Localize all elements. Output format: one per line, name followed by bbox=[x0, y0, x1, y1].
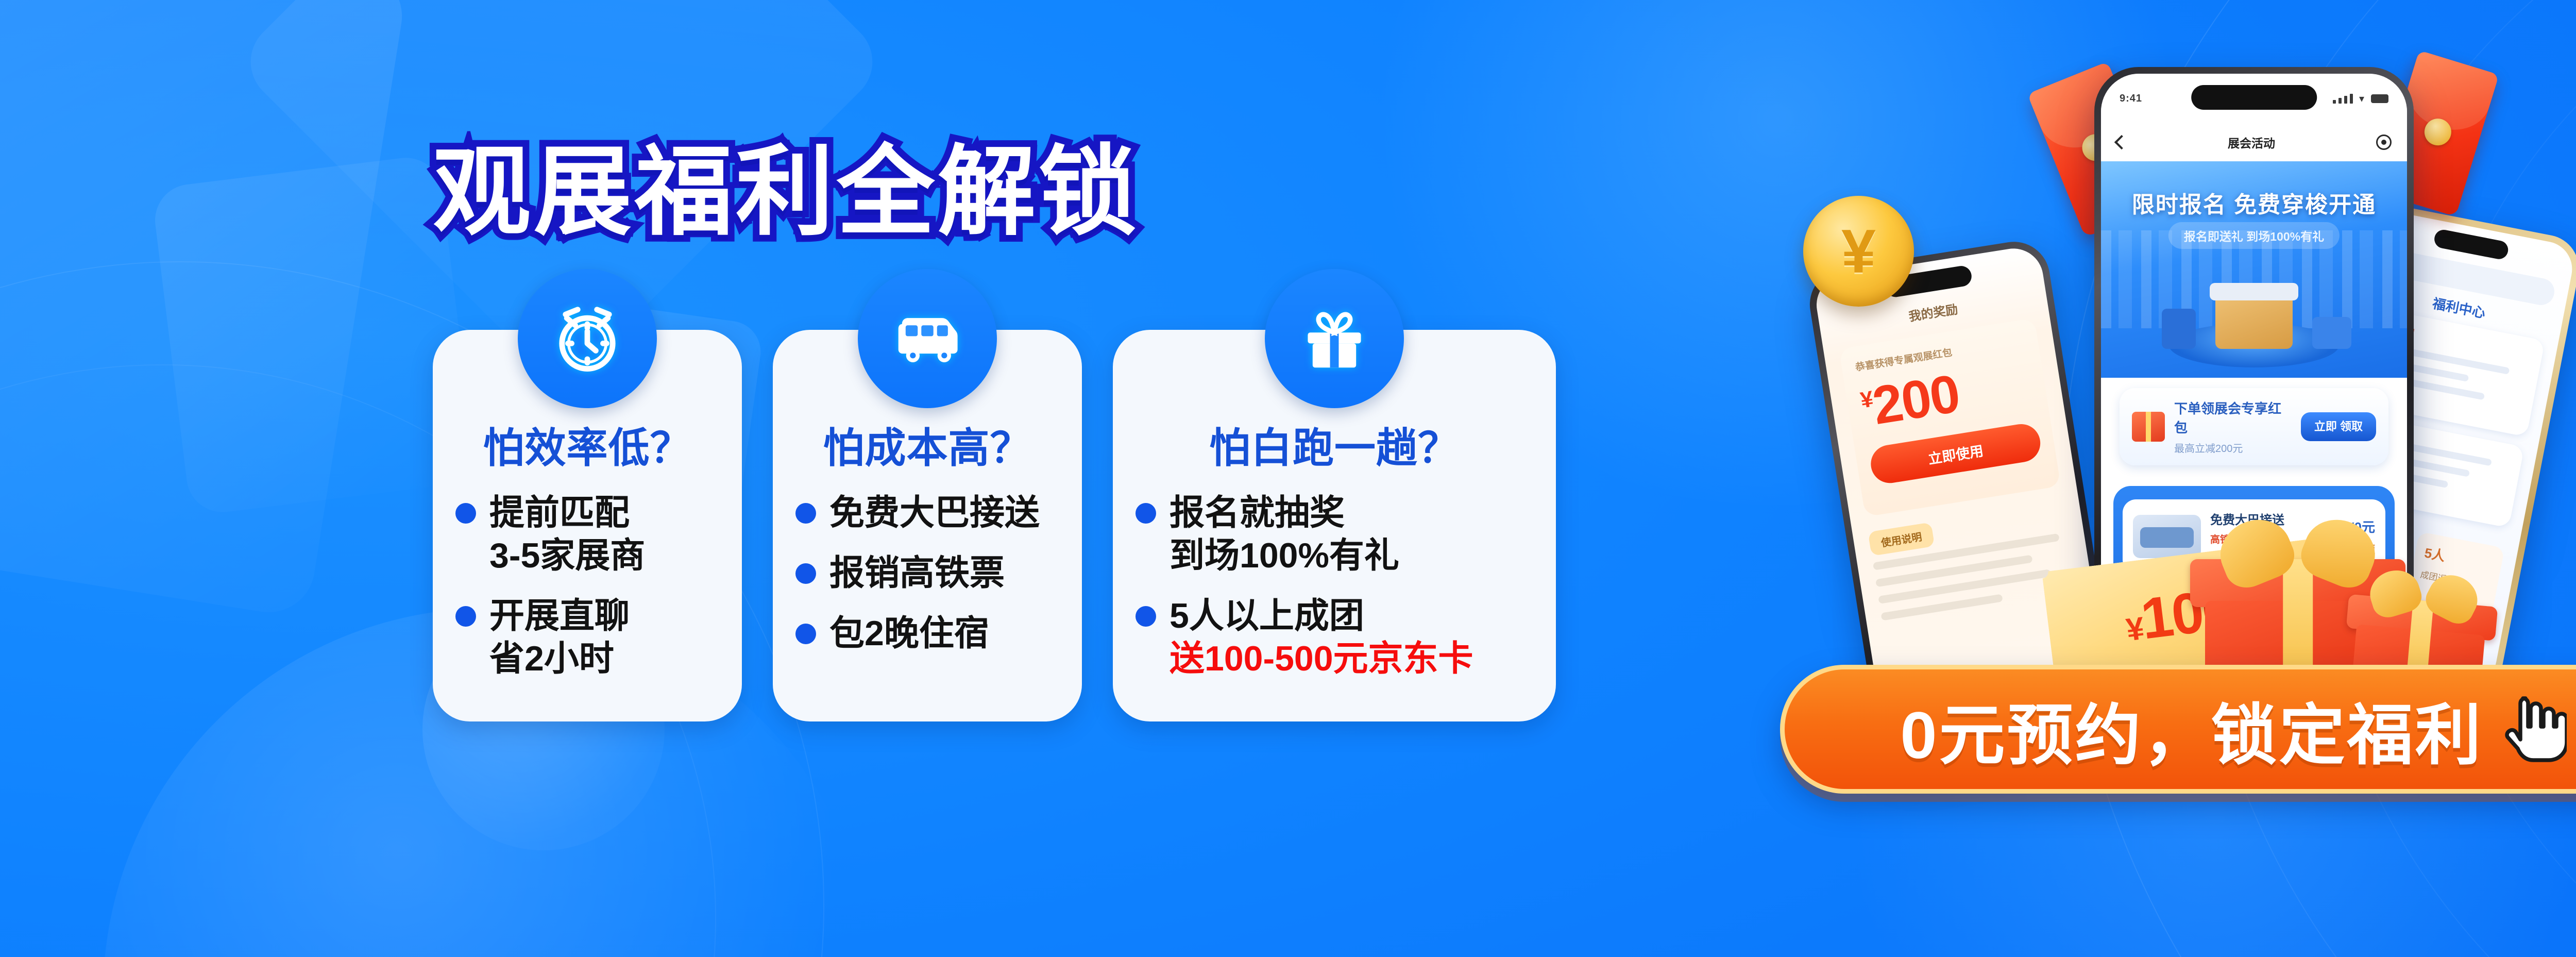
card-title: 怕效率低？ bbox=[483, 428, 692, 469]
list-item: 5人以上成团 送100-500元京东卡 bbox=[1136, 595, 1533, 680]
list-item: 开展直聊 省2小时 bbox=[455, 595, 719, 680]
bullet-text: 报名就抽奖 到场100%有礼 bbox=[1170, 492, 1399, 577]
benefit-card-reward: 怕白跑一趟？ 报名就抽奖 到场100%有礼 5人以上成团 送100-500元京东… bbox=[1113, 330, 1556, 721]
promo-claim-button[interactable]: 立即 领取 bbox=[2301, 412, 2376, 441]
gift-bow-icon bbox=[2220, 521, 2376, 583]
benefit-card-efficiency: 怕效率低？ 提前匹配 3-5家展商 开展直聊 省2小时 bbox=[433, 330, 742, 721]
bg-shape-card-2 bbox=[151, 154, 478, 516]
coin-currency-symbol: ¥ bbox=[1841, 221, 1876, 282]
more-options-icon[interactable] bbox=[2376, 135, 2392, 150]
gift-icon bbox=[1265, 269, 1404, 408]
card-title: 怕成本高？ bbox=[823, 428, 1032, 469]
list-item: 免费大巴接送 bbox=[795, 492, 1059, 534]
back-arrow-icon[interactable] bbox=[2114, 135, 2129, 149]
status-time: 9:41 bbox=[2120, 93, 2142, 105]
gold-coin-icon: ¥ bbox=[1803, 196, 1914, 307]
cta-label: 0元预约，锁定福利 bbox=[1900, 682, 2483, 777]
phone-notch bbox=[2191, 85, 2317, 110]
benefit-bullets: 报名就抽奖 到场100%有礼 5人以上成团 送100-500元京东卡 bbox=[1136, 492, 1533, 680]
promo-banner: 观展福利全解锁 怕效率低？ 提前匹配 bbox=[0, 0, 2576, 957]
bullet-dot-icon bbox=[455, 503, 476, 524]
app-promo-card[interactable]: 下单领展会专享红包 最高立减200元 立即 领取 bbox=[2120, 388, 2388, 465]
coupon-usage-tag: 使用说明 bbox=[1868, 522, 1935, 556]
promo-line-2: 最高立减200元 bbox=[2174, 440, 2292, 455]
bus-icon bbox=[858, 269, 997, 408]
bus-thumbnail-image bbox=[2133, 515, 2201, 558]
hero-subheadline: 报名即送礼 到场100%有礼 bbox=[2168, 222, 2340, 249]
promo-line-1: 下单领展会专享红包 bbox=[2174, 401, 2281, 435]
promo-text: 下单领展会专享红包 最高立减200元 bbox=[2174, 398, 2292, 455]
bullet-text: 5人以上成团 送100-500元京东卡 bbox=[1170, 595, 1473, 680]
bullet-dot-icon bbox=[1136, 503, 1156, 524]
bullet-text: 包2晚住宿 bbox=[829, 612, 989, 655]
signal-icon bbox=[2333, 94, 2353, 104]
page-title: 观展福利全解锁 bbox=[433, 143, 1140, 241]
phone-notch bbox=[2433, 228, 2510, 261]
nav-title: 展会活动 bbox=[2228, 133, 2275, 151]
bullet-dot-icon bbox=[795, 563, 816, 584]
bullet-text: 免费大巴接送 bbox=[829, 492, 1040, 534]
bullet-highlight-text: 送100-500元京东卡 bbox=[1170, 637, 1473, 680]
promo-gift-icon bbox=[2132, 412, 2165, 442]
alarm-clock-icon bbox=[518, 269, 657, 408]
gift-bow-icon bbox=[2368, 568, 2480, 622]
list-item: 报销高铁票 bbox=[795, 552, 1059, 595]
benefit-bullets: 提前匹配 3-5家展商 开展直聊 省2小时 bbox=[455, 492, 719, 680]
list-item: 包2晚住宿 bbox=[795, 612, 1059, 655]
phone-nav-bar: 展会活动 bbox=[2101, 123, 2407, 161]
bullet-text: 开展直聊 省2小时 bbox=[489, 595, 630, 680]
bullet-dot-icon bbox=[1136, 606, 1156, 627]
bullet-dot-icon bbox=[795, 503, 816, 524]
bullet-dot-icon bbox=[455, 606, 476, 627]
placeholder-line bbox=[1878, 569, 2051, 604]
benefit-card-cost: 怕成本高？ 免费大巴接送 报销高铁票 包2晚住宿 bbox=[773, 330, 1082, 721]
bg-shape-card-1 bbox=[0, 0, 409, 619]
hero-headline: 限时报名 免费穿梭开通 bbox=[2101, 186, 2407, 219]
hero-box-right bbox=[2312, 317, 2351, 349]
battery-icon bbox=[2371, 94, 2388, 103]
list-item: 提前匹配 3-5家展商 bbox=[455, 492, 719, 577]
app-hero-banner: 限时报名 免费穿梭开通 报名即送礼 到场100%有礼 bbox=[2101, 161, 2407, 378]
bullet-text: 报销高铁票 bbox=[829, 552, 1005, 595]
hero-gift-lid bbox=[2210, 283, 2298, 300]
coupon-card: 恭喜获得专属观展红包 ¥200 立即使用 bbox=[1839, 318, 2061, 517]
bullet-text: 提前匹配 3-5家展商 bbox=[489, 492, 645, 577]
bullet-dot-icon bbox=[795, 624, 816, 644]
list-item: 报名就抽奖 到场100%有礼 bbox=[1136, 492, 1533, 577]
card-title: 怕白跑一趟？ bbox=[1209, 428, 1460, 469]
benefit-bullets: 免费大巴接送 报销高铁票 包2晚住宿 bbox=[795, 492, 1059, 655]
hero-box-left bbox=[2162, 309, 2196, 349]
hand-pointer-cursor-icon bbox=[2505, 693, 2567, 765]
cta-reserve-button[interactable]: 0元预约，锁定福利 bbox=[1780, 665, 2576, 794]
wifi-icon: ▾ bbox=[2359, 92, 2365, 105]
benefit-card-list: 怕效率低？ 提前匹配 3-5家展商 开展直聊 省2小时 bbox=[433, 330, 1556, 721]
